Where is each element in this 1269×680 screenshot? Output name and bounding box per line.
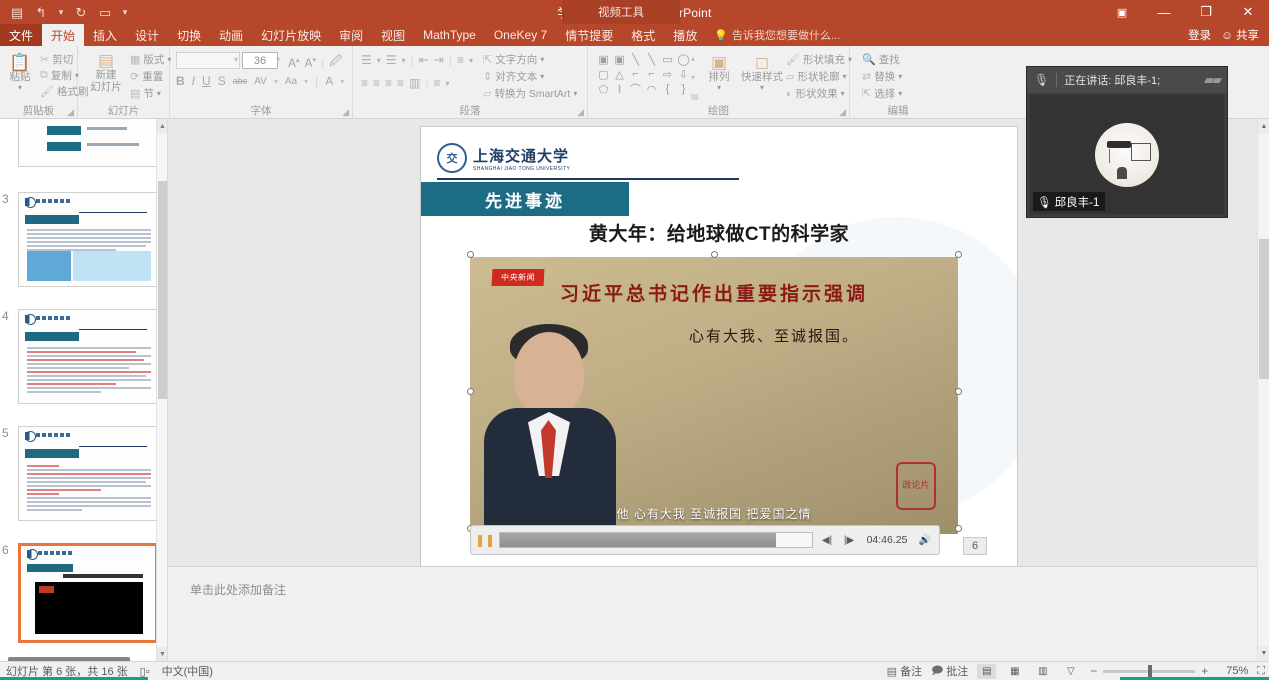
banner — [25, 449, 79, 458]
font-name-chevron-icon[interactable]: ▾ — [234, 55, 238, 64]
cut-label: 剪切 — [52, 52, 73, 67]
slide-number-badge: 6 — [963, 537, 987, 555]
align-text-icon: ⇕ — [483, 70, 492, 83]
video-headline: 习近平总书记作出重要指示强调 — [470, 279, 958, 306]
chevron-down-icon: ▾ — [157, 89, 161, 98]
text-direction-label: 文字方向 — [495, 52, 537, 67]
wave-icon: ▰▰ — [1204, 72, 1220, 88]
header-rule — [79, 446, 147, 447]
shape-fill-icon: 🖌 — [786, 53, 800, 66]
zoom-level-label: 75% — [1218, 665, 1248, 677]
toc-line — [87, 143, 139, 146]
chevron-down-icon[interactable]: ▾ — [340, 77, 344, 86]
account-area: 登录 ☺ 共享 — [1188, 24, 1265, 46]
slide-thumbnail-pane[interactable]: 3 4 — [0, 119, 168, 661]
clipboard-icon: 📋 — [9, 54, 30, 71]
thumbnail-number: 3 — [2, 192, 9, 206]
program-stamp: 政论片 — [896, 462, 936, 510]
group-label-paragraph: 段落 — [353, 103, 587, 118]
chevron-down-icon[interactable]: ▾ — [377, 56, 381, 65]
photo — [27, 251, 71, 281]
thumbnail-number: 6 — [2, 543, 9, 557]
section-icon: ▤ — [130, 87, 140, 100]
pause-icon[interactable]: ❚❚ — [477, 531, 493, 549]
microphone-icon: 🎙 — [1034, 73, 1049, 87]
notes-toggle-button[interactable]: ▤ 备注 — [887, 663, 922, 679]
align-right-button[interactable]: ≡ — [385, 76, 392, 90]
shape-line2-icon[interactable]: ╲ — [644, 52, 659, 66]
character-spacing-button[interactable]: AV — [254, 76, 267, 87]
chevron-down-icon[interactable]: ▾ — [274, 77, 278, 86]
copy-button[interactable]: ⧉ 复制 ▾ — [40, 68, 79, 83]
shape-textbox-icon[interactable]: ▣ — [596, 52, 611, 66]
chevron-down-icon: ▾ — [18, 83, 22, 92]
close-button[interactable]: ✕ — [1227, 0, 1269, 24]
notes-icon: ▤ — [887, 665, 897, 678]
logo-mark — [25, 432, 71, 440]
minimize-button[interactable]: — — [1143, 0, 1185, 24]
signin-button[interactable]: 登录 — [1188, 27, 1211, 43]
quick-styles-label: 快速样式 — [741, 71, 783, 83]
decrease-indent-button[interactable]: ⇤ — [419, 53, 429, 67]
align-left-button[interactable]: ≡ — [361, 76, 368, 90]
zoom-slider[interactable]: − + — [1089, 664, 1209, 678]
tab-slideshow[interactable]: 幻灯片放映 — [252, 24, 330, 46]
body-text — [27, 347, 151, 395]
chevron-down-icon: ▾ — [841, 89, 845, 98]
layout-icon: ▦ — [130, 53, 140, 66]
strikethrough-button[interactable]: abc — [233, 76, 248, 86]
copy-icon: ⧉ — [40, 69, 48, 82]
decrease-font-size-icon[interactable]: A▾ — [305, 56, 317, 70]
font-dialog-launcher[interactable]: ◢ — [342, 107, 349, 118]
bold-button[interactable]: B — [176, 74, 185, 88]
tab-view[interactable]: 视图 — [372, 24, 414, 46]
shape-pentagon-icon[interactable]: ⬠ — [596, 82, 611, 96]
reset-icon: ⟳ — [130, 70, 139, 83]
pointer-icon: ⇱ — [862, 87, 871, 100]
chevron-down-icon: ▾ — [842, 72, 846, 81]
ribbon-group-paragraph: ☰▾ ☰▾ | ⇤ ⇥ | ≡▾ ≡ ≡ ≡ ≡ ▥ | ≡▾ — [353, 46, 588, 119]
text-shadow-button[interactable]: S — [218, 74, 226, 88]
thumbnail-preview — [21, 546, 155, 640]
handle-top-center[interactable] — [711, 251, 718, 258]
notes-resize-grip[interactable] — [168, 567, 1257, 572]
layout-button[interactable]: ▦ 版式 ▾ — [130, 52, 171, 67]
thumbnail-slide-6[interactable]: 6 — [18, 543, 158, 643]
share-label: 共享 — [1236, 30, 1259, 42]
paste-button[interactable]: 📋 粘贴 ▾ — [4, 54, 36, 92]
font-color-button[interactable]: A — [325, 74, 333, 88]
university-logo: 交 上海交通大学 SHANGHAI JIAO TONG UNIVERSITY — [437, 143, 570, 173]
university-name-cn: 上海交通大学 — [473, 145, 570, 166]
tab-animations[interactable]: 动画 — [210, 24, 252, 46]
tab-storyboard[interactable]: 情节提要 — [556, 24, 622, 46]
previous-frame-button[interactable]: ◀| — [819, 535, 835, 546]
canvas-scrollbar[interactable]: ▲ ▼ — [1257, 119, 1269, 661]
chevron-down-icon[interactable]: ▾ — [304, 77, 308, 86]
logo-mark — [25, 198, 71, 206]
tell-me-placeholder: 告诉我您想要做什么... — [732, 27, 840, 43]
tell-me-box[interactable]: 💡 告诉我您想要做什么... — [706, 24, 848, 46]
slide-sorter-icon[interactable]: ▦ — [1005, 664, 1024, 679]
volume-icon[interactable]: 🔊 — [917, 535, 933, 546]
shape-arc-icon[interactable]: ◠ — [644, 82, 659, 96]
participant-name: 邱良丰-1 — [1055, 194, 1100, 210]
scissors-icon: ✂ — [40, 53, 49, 66]
tab-mathtype[interactable]: MathType — [414, 24, 485, 46]
justify-button[interactable]: ≡ — [397, 76, 404, 90]
shape-triangle-icon[interactable]: △ — [612, 67, 627, 81]
convert-smartart-button[interactable]: ▱ 转换为 SmartArt ▾ — [483, 86, 577, 101]
title-bar: ▤ ↰ ▾ ↻ ▭ ▾ 学习心得 .pptx - PowerPoint 视频工具… — [0, 0, 1269, 24]
thumbnail-number: 5 — [2, 426, 9, 440]
shapes-scroll-up-icon[interactable]: ▴ — [691, 54, 699, 63]
avatar-board — [1131, 143, 1151, 161]
new-slide-label-1: 新建 — [96, 69, 117, 81]
group-label-editing: 编辑 — [850, 103, 946, 118]
shape-arrow-down-icon[interactable]: ⇩ — [676, 67, 691, 81]
scrollbar-thumb[interactable] — [1259, 239, 1269, 379]
meeting-header: 🎙 正在讲话: 邱良丰-1; ▰▰ — [1027, 67, 1227, 93]
columns-button[interactable]: ▥ — [409, 76, 420, 90]
thumbnail-slide-5[interactable]: 5 — [18, 426, 158, 521]
shape-fill-button[interactable]: 🖌 形状填充 ▾ — [786, 52, 852, 67]
ribbon-group-clipboard: 📋 粘贴 ▾ ✂ 剪切 ⧉ 复制 ▾ 🖌 格式刷 剪贴板 — [0, 46, 78, 119]
italic-button[interactable]: I — [192, 74, 195, 88]
new-slide-button[interactable]: ▤ 新建 幻灯片 — [84, 52, 128, 93]
tab-format[interactable]: 格式 — [622, 24, 664, 46]
quick-styles-icon: ◻ — [755, 54, 769, 71]
chevron-down-icon: ▾ — [898, 72, 902, 81]
banner — [27, 564, 73, 572]
shape-effects-label: 形状效果 — [796, 86, 838, 101]
find-button[interactable]: 🔍 查找 — [862, 52, 900, 67]
shape-rounded-icon[interactable]: ▢ — [596, 67, 611, 81]
scrollbar-thumb[interactable] — [158, 181, 167, 399]
quick-styles-button[interactable]: ◻ 快速样式 ▾ — [740, 54, 784, 92]
logo-mark — [27, 550, 73, 558]
clear-formatting-icon[interactable]: 🖉 — [329, 52, 342, 73]
align-center-button[interactable]: ≡ — [373, 76, 380, 90]
comments-label: 批注 — [946, 663, 968, 679]
video-progress-fill — [500, 533, 776, 547]
increase-font-size-icon[interactable]: A▴ — [288, 56, 300, 70]
cut-button[interactable]: ✂ 剪切 — [40, 52, 73, 67]
zoom-out-button[interactable]: − — [1089, 664, 1098, 678]
reset-label: 重置 — [142, 69, 163, 84]
text-columns-button[interactable]: ≡ — [434, 76, 441, 90]
line-spacing-button[interactable]: ≡ — [457, 53, 464, 67]
group-label-font: 字体 — [170, 103, 352, 118]
video-placeholder — [35, 582, 143, 634]
replace-button[interactable]: ⇄ 替换 ▾ — [862, 69, 902, 84]
section-banner: 先进事迹 — [421, 182, 629, 216]
shape-outline-button[interactable]: ▱ 形状轮廓 ▾ — [786, 69, 846, 84]
thumbnail-preview — [19, 119, 157, 166]
notes-pane[interactable]: 单击此处添加备注 — [168, 566, 1257, 661]
thumbnail-card-selected[interactable] — [18, 543, 158, 643]
thumbnail-card[interactable] — [18, 426, 158, 521]
university-seal-icon: 交 — [437, 143, 467, 173]
logo-mark — [25, 315, 71, 323]
shape-brace-right-icon[interactable]: } — [676, 82, 691, 96]
normal-view-icon[interactable]: ▤ — [977, 664, 996, 679]
status-bar: 幻灯片 第 6 张，共 16 张 ▯▫ 中文(中国) ▤ 备注 🗩 批注 ▤ ▦… — [0, 661, 1269, 680]
paragraph-dialog-launcher[interactable]: ◢ — [577, 107, 584, 118]
tab-file[interactable]: 文件 — [0, 24, 42, 46]
toc-chip — [47, 142, 81, 151]
title-line — [63, 574, 143, 578]
ribbon-group-font: ▾ 36 ▾ A▴ A▾ | 🖉 B I U S abc AV ▾ Aa — [170, 46, 353, 119]
video-progress-track[interactable] — [499, 532, 813, 548]
section-label: 节 — [143, 86, 154, 101]
slide-title[interactable]: 黄大年：给地球做CT的科学家 — [421, 219, 1017, 246]
spellcheck-icon[interactable]: ▯▫ — [140, 665, 150, 678]
paste-label: 粘贴 — [10, 71, 31, 83]
shape-rect-icon[interactable]: ▭ — [660, 52, 675, 66]
thumbnail-scrollbar[interactable]: ▲ ▼ — [156, 119, 167, 661]
photo-caption-box — [73, 251, 151, 281]
convert-smartart-label: 转换为 SmartArt — [494, 86, 570, 101]
ribbon-group-slides: ▤ 新建 幻灯片 ▦ 版式 ▾ ⟳ 重置 ▤ 节 ▾ — [78, 46, 170, 119]
window-controls: ▣ — ❐ ✕ — [1101, 0, 1269, 24]
avatar-person — [1117, 167, 1127, 179]
tab-transitions[interactable]: 切换 — [168, 24, 210, 46]
change-case-button[interactable]: Aa — [285, 76, 297, 87]
avatar-desk — [1107, 141, 1131, 148]
handle-middle-left[interactable] — [467, 388, 474, 395]
shape-freeform-icon[interactable]: ⌇ — [612, 82, 627, 96]
video-time-display: 04:46.25 — [863, 534, 911, 546]
notes-placeholder: 单击此处添加备注 — [190, 581, 286, 598]
university-name-en: SHANGHAI JIAO TONG UNIVERSITY — [473, 166, 570, 172]
handle-bottom-right[interactable] — [955, 525, 962, 532]
reading-view-icon[interactable]: ▥ — [1033, 664, 1052, 679]
paintbrush-icon: 🖌 — [40, 85, 54, 98]
slide-editor-surface[interactable]: 交 上海交通大学 SHANGHAI JIAO TONG UNIVERSITY 先… — [421, 127, 1017, 574]
body-text — [27, 229, 151, 253]
participant-name-chip: 🎙 邱良丰-1 — [1033, 192, 1105, 211]
search-icon: 🔍 — [862, 53, 876, 66]
tab-onekey[interactable]: OneKey 7 — [485, 24, 556, 46]
chevron-down-icon: ▾ — [540, 55, 544, 64]
ribbon-group-drawing: ▣ ▣ ╲ ╲ ▭ ◯ ▢ △ ⌐ ⌐ ⇨ ⇩ ⬠ ⌇ ⌒ ◠ { — [588, 46, 850, 119]
video-conference-panel[interactable]: 🎙 正在讲话: 邱良丰-1; ▰▰ 🎙 邱良丰-1 — [1026, 66, 1228, 218]
shape-arrow-right-icon[interactable]: ⇨ — [660, 67, 675, 81]
group-label-slides: 幻灯片 — [78, 103, 169, 118]
video-playback-bar[interactable]: ❚❚ ◀| |▶ 04:46.25 🔊 — [470, 525, 940, 555]
speaking-label: 正在讲话: 邱良丰-1; — [1064, 72, 1160, 88]
copy-label: 复制 — [51, 68, 72, 83]
toc-line — [87, 127, 127, 130]
shape-oval-icon[interactable]: ◯ — [676, 52, 691, 66]
new-slide-icon: ▤ — [98, 52, 114, 69]
arrange-button[interactable]: ▣ 排列 ▾ — [700, 54, 738, 92]
replace-label: 替换 — [874, 69, 895, 84]
chevron-down-icon: ▾ — [898, 89, 902, 98]
thumbnail-number: 4 — [2, 309, 9, 323]
shape-curve-icon[interactable]: ⌒ — [628, 82, 643, 96]
section-button[interactable]: ▤ 节 ▾ — [130, 86, 161, 101]
handle-middle-right[interactable] — [955, 388, 962, 395]
next-frame-button[interactable]: |▶ — [841, 535, 857, 546]
language-indicator[interactable]: 中文(中国) — [162, 663, 213, 679]
scroll-up-icon[interactable]: ▲ — [157, 119, 168, 133]
banner — [25, 215, 79, 224]
thumbnail-slide-4[interactable]: 4 — [18, 309, 158, 404]
handle-top-right[interactable] — [955, 251, 962, 258]
align-text-label: 对齐文本 — [495, 69, 537, 84]
text-direction-icon: ⇱ — [483, 53, 492, 66]
group-label-drawing: 绘图 — [588, 103, 849, 118]
chevron-down-icon: ▾ — [717, 83, 721, 92]
chevron-down-icon[interactable]: ▾ — [469, 56, 473, 65]
video-person-figure — [478, 316, 620, 534]
news-flag — [39, 586, 54, 593]
thumbnail-preview — [19, 427, 157, 520]
thumbnail-preview — [19, 193, 157, 286]
handle-top-left[interactable] — [467, 251, 474, 258]
shape-fill-label: 形状填充 — [803, 52, 845, 67]
reset-button[interactable]: ⟳ 重置 — [130, 69, 163, 84]
chevron-down-icon: ▾ — [760, 83, 764, 92]
shape-effects-icon: ◐ — [786, 88, 793, 100]
replace-icon: ⇄ — [862, 70, 871, 83]
meeting-video-area[interactable]: 🎙 邱良丰-1 — [1030, 95, 1224, 214]
chevron-down-icon[interactable]: ▾ — [402, 56, 406, 65]
select-label: 选择 — [874, 86, 895, 101]
thumbnail-card[interactable] — [18, 309, 158, 404]
underline-button[interactable]: U — [202, 74, 211, 88]
comment-icon: 🗩 — [931, 662, 943, 680]
header-rule — [79, 329, 147, 330]
find-label: 查找 — [879, 52, 900, 67]
select-button[interactable]: ⇱ 选择 ▾ — [862, 86, 902, 101]
comments-button[interactable]: 🗩 批注 — [931, 662, 968, 680]
align-text-button[interactable]: ⇕ 对齐文本 ▾ — [483, 69, 544, 84]
shapes-scroll-down-icon[interactable]: ▾ — [691, 73, 699, 82]
ribbon-group-editing: 🔍 查找 ⇄ 替换 ▾ ⇱ 选择 ▾ 编辑 — [850, 46, 946, 119]
shape-brace-left-icon[interactable]: { — [660, 82, 675, 96]
scroll-up-icon[interactable]: ▲ — [1258, 119, 1269, 134]
thumbnail-card[interactable] — [18, 192, 158, 287]
header-rule — [79, 212, 147, 213]
participant-avatar — [1095, 123, 1159, 187]
increase-indent-button[interactable]: ⇥ — [434, 53, 444, 67]
video-object[interactable]: 中央新闻 习近平总书记作出重要指示强调 心有大我、至诚报国。 政论片 他 心有大… — [470, 257, 958, 534]
font-name-input[interactable] — [176, 52, 240, 69]
tab-playback[interactable]: 播放 — [664, 24, 706, 46]
ribbon-display-options-icon[interactable]: ▣ — [1101, 0, 1143, 24]
thumbnail-slide-2[interactable] — [18, 119, 158, 167]
layout-label: 版式 — [143, 52, 164, 67]
body-text — [27, 465, 151, 513]
shape-textbox2-icon[interactable]: ▣ — [612, 52, 627, 66]
avatar-lamp — [1109, 149, 1110, 163]
fit-to-window-icon[interactable]: ⛶ — [1257, 665, 1265, 678]
clipboard-dialog-launcher[interactable]: ◢ — [67, 107, 74, 118]
header-rule — [437, 178, 739, 180]
tab-design[interactable]: 设计 — [126, 24, 168, 46]
arrange-label: 排列 — [709, 71, 730, 83]
powerpoint-window: ▤ ↰ ▾ ↻ ▭ ▾ 学习心得 .pptx - PowerPoint 视频工具… — [0, 0, 1269, 680]
thumbnail-card[interactable] — [18, 119, 158, 167]
divider — [1056, 73, 1057, 87]
thumbnail-slide-3[interactable]: 3 — [18, 192, 158, 287]
zoom-knob[interactable] — [1148, 665, 1152, 678]
video-caption: 他 心有大我 至诚报国 把爱国之情 — [470, 505, 958, 522]
figure-head — [514, 332, 584, 416]
font-size-chevron-icon[interactable]: ▾ — [276, 55, 280, 64]
chevron-down-icon[interactable]: ▾ — [446, 79, 450, 88]
bullets-button[interactable]: ☰ — [361, 53, 372, 67]
zoom-track[interactable] — [1103, 670, 1195, 673]
shape-effects-button[interactable]: ◐ 形状效果 ▾ — [786, 86, 845, 101]
watermark — [103, 119, 149, 120]
numbering-button[interactable]: ☰ — [386, 53, 397, 67]
slideshow-icon[interactable]: ▽ — [1061, 664, 1080, 679]
microphone-icon: 🎙 — [1037, 195, 1052, 209]
thumbnail-preview — [19, 310, 157, 403]
scroll-down-icon[interactable]: ▼ — [157, 647, 168, 661]
drawing-dialog-launcher[interactable]: ◢ — [839, 107, 846, 118]
chevron-down-icon: ▾ — [540, 72, 544, 81]
shape-outline-icon: ▱ — [786, 70, 794, 83]
font-size-input[interactable]: 36 — [242, 52, 278, 69]
ribbon-tab-strip: 文件 开始 插入 设计 切换 动画 幻灯片放映 审阅 视图 MathType O… — [0, 24, 1269, 46]
group-label-clipboard: 剪贴板 — [0, 103, 77, 118]
shape-elbow2-icon[interactable]: ⌐ — [644, 67, 659, 81]
zoom-in-button[interactable]: + — [1200, 664, 1209, 678]
notes-label: 备注 — [900, 663, 922, 679]
tab-home[interactable]: 开始 — [42, 24, 84, 46]
shape-elbow-icon[interactable]: ⌐ — [628, 67, 643, 81]
text-direction-button[interactable]: ⇱ 文字方向 ▾ — [483, 52, 544, 67]
new-slide-label-2: 幻灯片 — [90, 81, 122, 93]
arrange-icon: ▣ — [711, 54, 727, 71]
chevron-down-icon: ▾ — [573, 89, 577, 98]
contextual-tab-video-tools: 视频工具 — [562, 0, 680, 24]
restore-button[interactable]: ❐ — [1185, 0, 1227, 24]
smartart-icon: ▱ — [483, 87, 491, 100]
share-button[interactable]: ☺ 共享 — [1221, 27, 1259, 43]
shape-line-icon[interactable]: ╲ — [628, 52, 643, 66]
lightbulb-icon: 💡 — [714, 29, 728, 42]
tab-review[interactable]: 审阅 — [330, 24, 372, 46]
toc-chip — [47, 126, 81, 135]
shapes-gallery[interactable]: ▣ ▣ ╲ ╲ ▭ ◯ ▢ △ ⌐ ⌐ ⇨ ⇩ ⬠ ⌇ ⌒ ◠ { — [596, 52, 691, 96]
scroll-down-icon[interactable]: ▼ — [1258, 646, 1269, 661]
shapes-more-icon[interactable]: ▤ — [691, 92, 699, 101]
shape-outline-label: 形状轮廓 — [797, 69, 839, 84]
banner — [25, 332, 79, 341]
tab-insert[interactable]: 插入 — [84, 24, 126, 46]
